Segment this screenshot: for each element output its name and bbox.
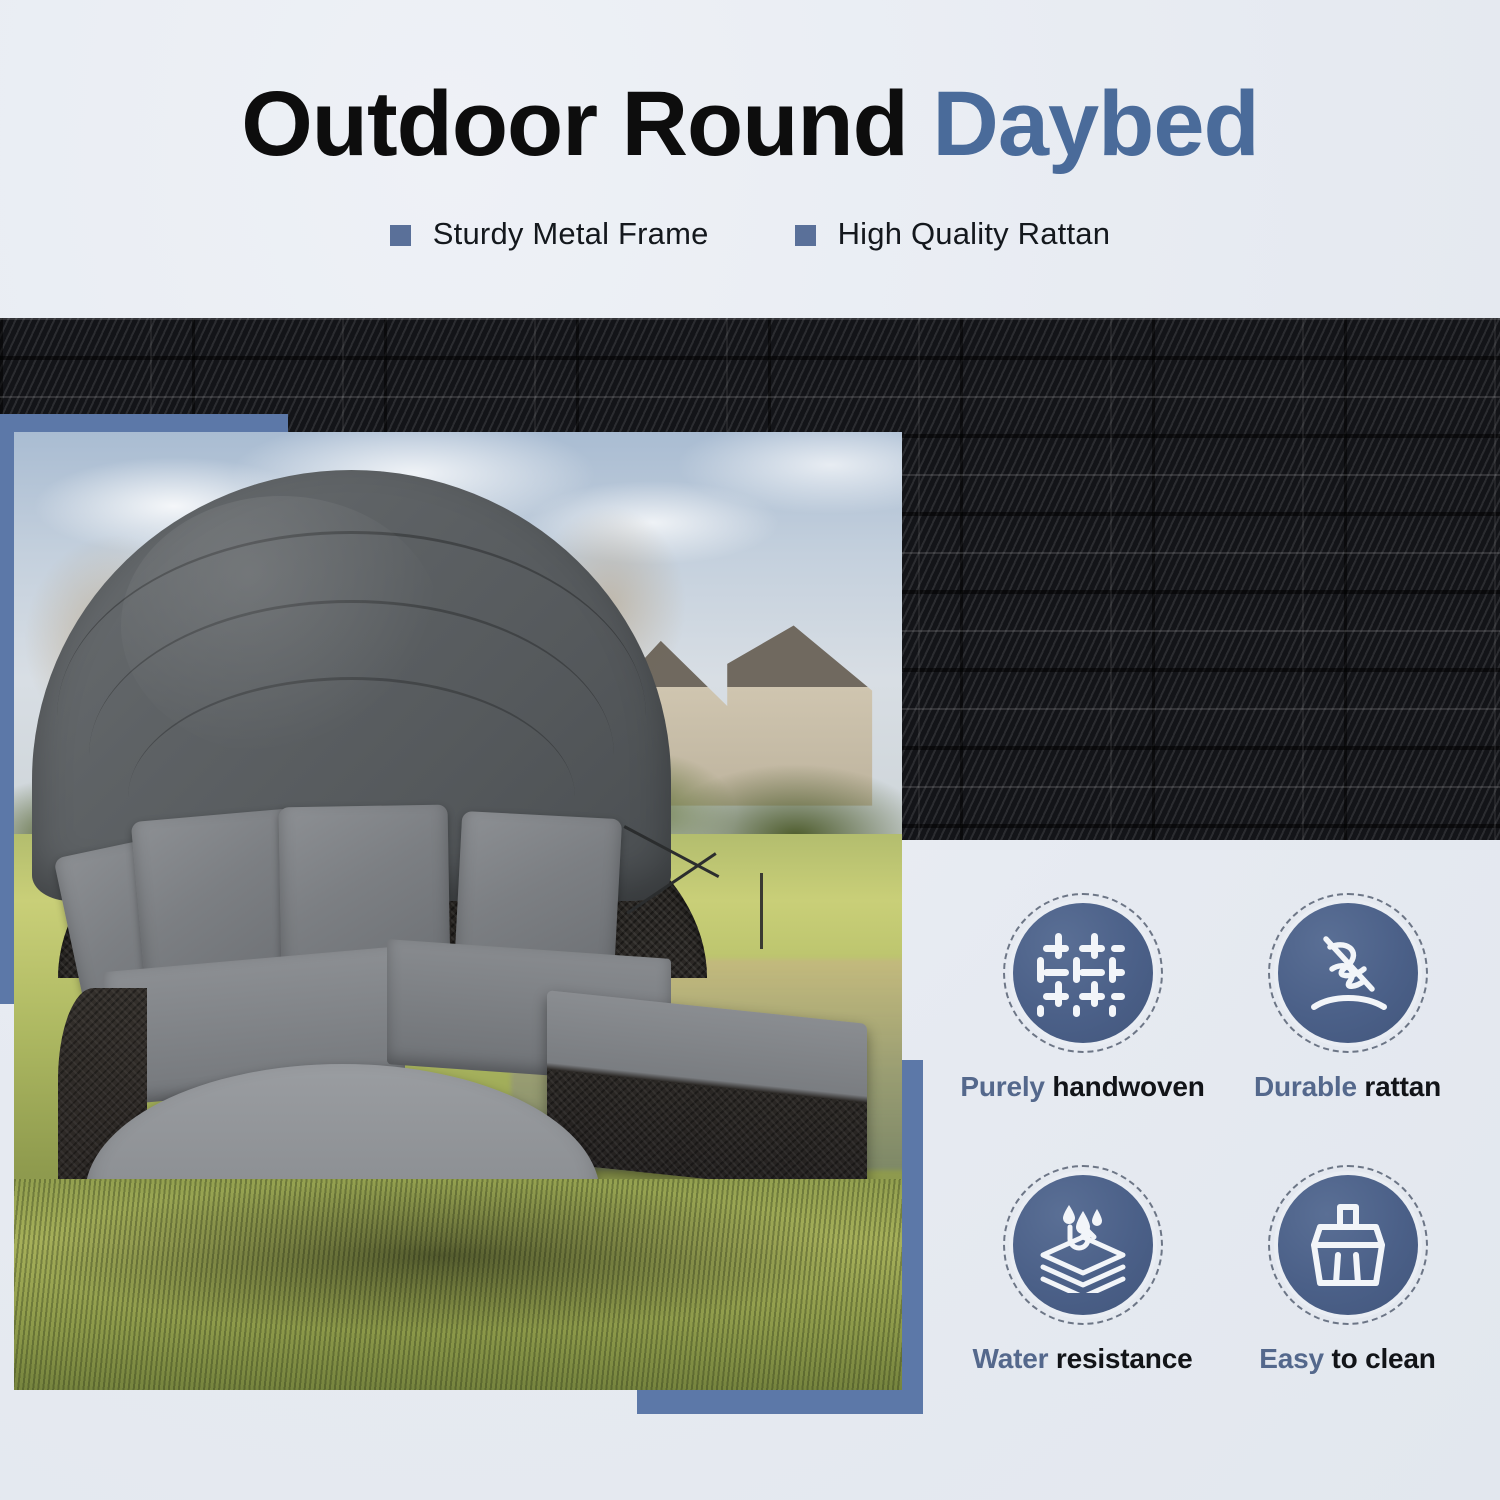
no-deformation-icon — [1300, 925, 1396, 1021]
title-accent: Daybed — [932, 73, 1258, 175]
canopy-support-strut — [618, 796, 725, 930]
feature-label-accent: Easy — [1259, 1343, 1324, 1374]
feature-item-clean: Easy to clean — [1220, 1165, 1475, 1375]
feature-item-water: Water resistance — [955, 1165, 1210, 1375]
water-layers-icon — [1035, 1197, 1131, 1293]
feature-label-accent: Purely — [960, 1071, 1044, 1102]
square-bullet-icon — [795, 225, 816, 246]
page-title: Outdoor Round Daybed — [0, 78, 1500, 170]
feature-icon-badge — [1003, 893, 1163, 1053]
accent-frame-bottom — [637, 1390, 923, 1414]
daybed-side-ottoman — [547, 990, 867, 1196]
photo-flagpole — [760, 873, 763, 950]
canopy-highlight — [121, 496, 441, 755]
accent-frame-right — [901, 1060, 923, 1414]
header: Outdoor Round Daybed Sturdy Metal Frame … — [0, 0, 1500, 310]
feature-icon-badge — [1003, 1165, 1163, 1325]
product-banner: Outdoor Round Daybed Sturdy Metal Frame … — [0, 0, 1500, 1500]
bullet-label: Sturdy Metal Frame — [433, 216, 709, 252]
feature-icon-badge — [1268, 1165, 1428, 1325]
feature-item-handwoven: Purely handwoven — [955, 893, 1210, 1103]
bullet-item-0: Sturdy Metal Frame — [390, 216, 709, 252]
photo-ground-shadow — [32, 1179, 849, 1332]
woven-basket-icon — [1035, 925, 1131, 1021]
bullet-item-1: High Quality Rattan — [795, 216, 1111, 252]
feature-label-main: resistance — [1056, 1343, 1193, 1374]
feature-label: Durable rattan — [1254, 1071, 1441, 1103]
bullet-label: High Quality Rattan — [838, 216, 1111, 252]
feature-label-main: rattan — [1364, 1071, 1441, 1102]
feature-label: Purely handwoven — [960, 1071, 1204, 1103]
broom-brush-icon — [1300, 1197, 1396, 1293]
feature-bullets: Sturdy Metal Frame High Quality Rattan — [0, 216, 1500, 252]
feature-grid: Purely handwoven Durable — [955, 893, 1475, 1375]
feature-label: Water resistance — [973, 1343, 1193, 1375]
title-primary: Outdoor Round — [241, 73, 908, 175]
square-bullet-icon — [390, 225, 411, 246]
feature-label-main: handwoven — [1052, 1071, 1204, 1102]
feature-label-main: to clean — [1331, 1343, 1435, 1374]
product-photo — [14, 432, 902, 1390]
feature-label-accent: Water — [973, 1343, 1049, 1374]
feature-item-durable: Durable rattan — [1220, 893, 1475, 1103]
feature-icon-badge — [1268, 893, 1428, 1053]
feature-label: Easy to clean — [1259, 1343, 1435, 1375]
feature-label-accent: Durable — [1254, 1071, 1357, 1102]
